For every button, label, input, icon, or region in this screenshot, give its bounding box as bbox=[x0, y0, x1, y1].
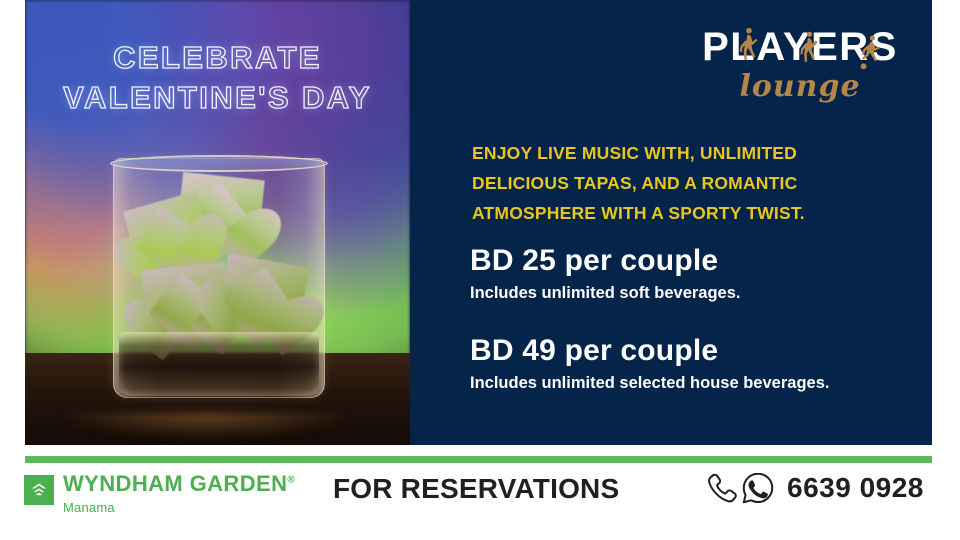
offer-note: Includes unlimited soft beverages. bbox=[470, 282, 932, 304]
soccer-player-silhouette bbox=[860, 34, 882, 70]
glass-base bbox=[119, 332, 319, 396]
hero-photo: CELEBRATE VALENTINE'S DAY bbox=[25, 0, 410, 445]
cricket-player-silhouette bbox=[738, 26, 758, 68]
tumbler-glass bbox=[113, 158, 325, 398]
glass-rim bbox=[110, 155, 328, 172]
green-divider bbox=[25, 456, 932, 463]
players-lounge-logo: PLAYERS lounge bbox=[700, 24, 900, 104]
content-column: PLAYERS lounge ENJOY LIVE MUSIC WITH, UN… bbox=[410, 0, 932, 445]
offer-item: BD 49 per couple Includes unlimited sele… bbox=[470, 332, 932, 394]
logo-sub-wordmark: lounge bbox=[700, 70, 900, 104]
footer-bar: WYNDHAM GARDEN® Manama FOR RESERVATIONS … bbox=[0, 463, 960, 540]
whatsapp-icon[interactable] bbox=[741, 471, 775, 505]
hero-headline: CELEBRATE VALENTINE'S DAY bbox=[25, 38, 410, 118]
offer-price: BD 25 per couple bbox=[470, 242, 932, 280]
table-reflection bbox=[55, 413, 355, 439]
valentines-promo-poster: CELEBRATE VALENTINE'S DAY PLAYERS l bbox=[0, 0, 960, 540]
contact-block[interactable]: 6639 0928 bbox=[703, 471, 924, 505]
wyndham-name: WYNDHAM GARDEN® bbox=[63, 473, 295, 495]
wyndham-trademark: ® bbox=[287, 475, 295, 486]
reservations-label: FOR RESERVATIONS bbox=[333, 473, 619, 505]
tennis-player-silhouette bbox=[800, 30, 818, 70]
main-panel: CELEBRATE VALENTINE'S DAY PLAYERS l bbox=[25, 0, 932, 445]
phone-number[interactable]: 6639 0928 bbox=[787, 472, 924, 504]
phone-handset-icon[interactable] bbox=[703, 471, 737, 505]
offer-note: Includes unlimited selected house bevera… bbox=[470, 372, 932, 394]
wyndham-location: Manama bbox=[63, 501, 295, 514]
promo-tagline: ENJOY LIVE MUSIC WITH, UNLIMITED DELICIO… bbox=[472, 138, 892, 228]
wyndham-text-block: WYNDHAM GARDEN® Manama bbox=[63, 473, 295, 514]
offer-price: BD 49 per couple bbox=[470, 332, 932, 370]
wyndham-garden-logo: WYNDHAM GARDEN® Manama bbox=[24, 473, 295, 514]
offer-item: BD 25 per couple Includes unlimited soft… bbox=[470, 242, 932, 304]
wyndham-leaf-icon bbox=[24, 475, 54, 505]
heart-ice-cube bbox=[215, 253, 309, 344]
logo-wordmark-wrap: PLAYERS bbox=[700, 24, 900, 72]
wyndham-name-text: WYNDHAM GARDEN bbox=[63, 471, 287, 496]
